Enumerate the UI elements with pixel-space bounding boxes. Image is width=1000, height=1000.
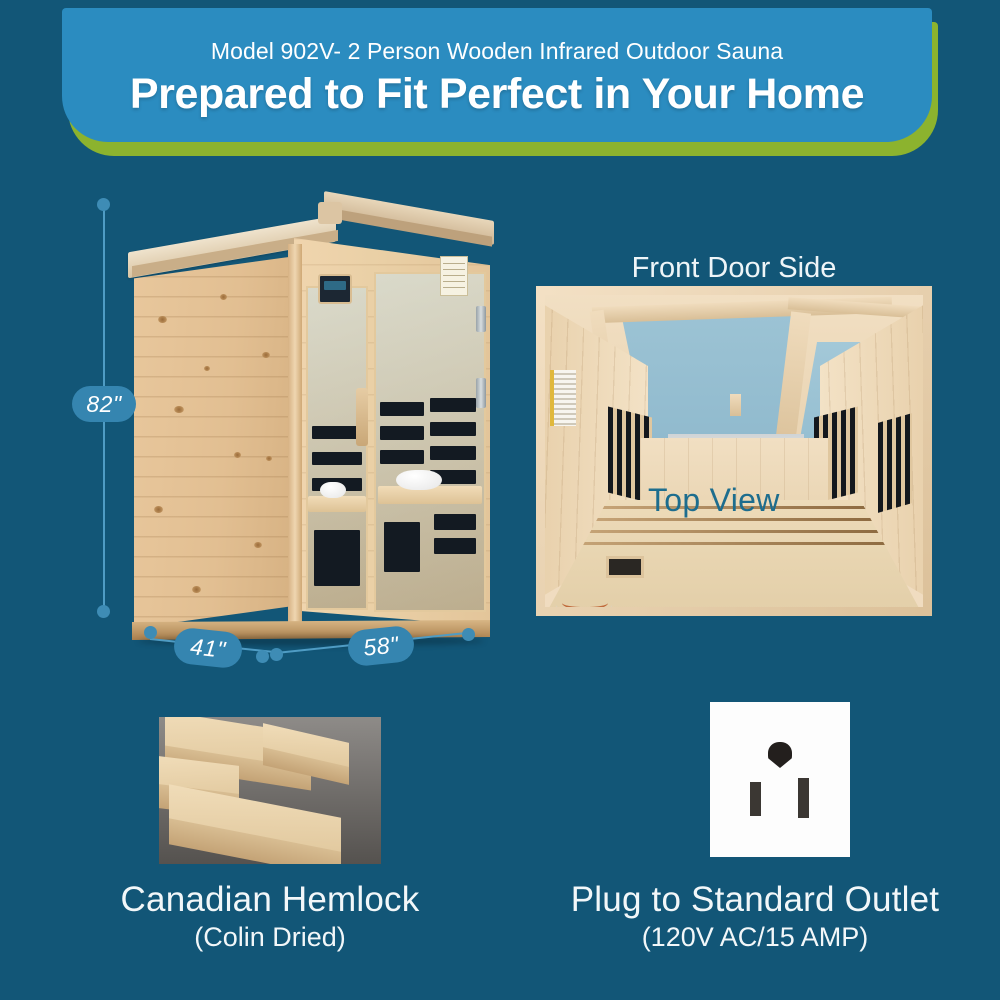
product-model-subtitle: Model 902V- 2 Person Wooden Infrared Out… — [211, 38, 783, 65]
outlet-subtitle: (120V AC/15 AMP) — [530, 922, 980, 953]
width-dimension-label: 58" — [346, 625, 415, 668]
sauna-bench — [308, 496, 366, 512]
sauna-interior-photo: Top View — [536, 286, 932, 616]
heater-panel — [430, 398, 476, 412]
depth-dim-dot-left — [144, 626, 157, 639]
door-handle[interactable] — [356, 388, 368, 446]
page-title: Prepared to Fit Perfect in Your Home — [130, 70, 864, 119]
heater-panel — [380, 450, 424, 464]
height-dimension-label: 82" — [72, 386, 136, 422]
outlet-photo — [710, 702, 850, 857]
height-dim-dot-bottom — [97, 605, 110, 618]
heater-panel — [312, 426, 362, 439]
outlet-slot-right — [798, 778, 809, 818]
width-dim-dot-right — [462, 628, 475, 641]
control-panel[interactable] — [318, 274, 352, 304]
front-door-side-label: Front Door Side — [536, 252, 932, 285]
heater-panel-lower — [314, 530, 360, 586]
interior-photo-frame — [536, 286, 932, 616]
outlet-slot-left — [750, 782, 761, 816]
width-dim-dot-left — [270, 648, 283, 661]
height-dim-dot-top — [97, 198, 110, 211]
heater-panel-lower — [434, 538, 476, 554]
door-hinge — [476, 378, 486, 408]
hemlock-subtitle: (Colin Dried) — [60, 922, 480, 953]
sauna-exterior-photo — [128, 196, 488, 644]
sauna-corner-post — [288, 244, 302, 628]
outlet-ground-hole — [768, 742, 792, 768]
heater-panel-lower — [434, 514, 476, 530]
heater-panel — [430, 422, 476, 436]
door-hinge — [476, 306, 486, 332]
heater-panel — [430, 446, 476, 460]
heater-panel-lower — [384, 522, 420, 572]
heater-panel — [380, 402, 424, 416]
top-view-label: Top View — [648, 482, 780, 519]
outlet-caption: Plug to Standard Outlet (120V AC/15 AMP) — [530, 880, 980, 953]
hemlock-wood-photo — [159, 717, 381, 864]
header-banner: Model 902V- 2 Person Wooden Infrared Out… — [62, 8, 938, 156]
roof-ridge — [318, 202, 342, 224]
outlet-title: Plug to Standard Outlet — [530, 880, 980, 920]
warning-label-sticker — [440, 256, 468, 296]
heater-panel — [312, 452, 362, 465]
hemlock-caption: Canadian Hemlock (Colin Dried) — [60, 880, 480, 953]
towel — [320, 482, 346, 498]
side-wall-knots — [134, 256, 296, 628]
banner-blue-panel: Model 902V- 2 Person Wooden Infrared Out… — [62, 8, 932, 142]
depth-dim-dot-right — [256, 650, 269, 663]
heater-panel — [380, 426, 424, 440]
towel — [396, 470, 442, 490]
hemlock-title: Canadian Hemlock — [60, 880, 480, 920]
